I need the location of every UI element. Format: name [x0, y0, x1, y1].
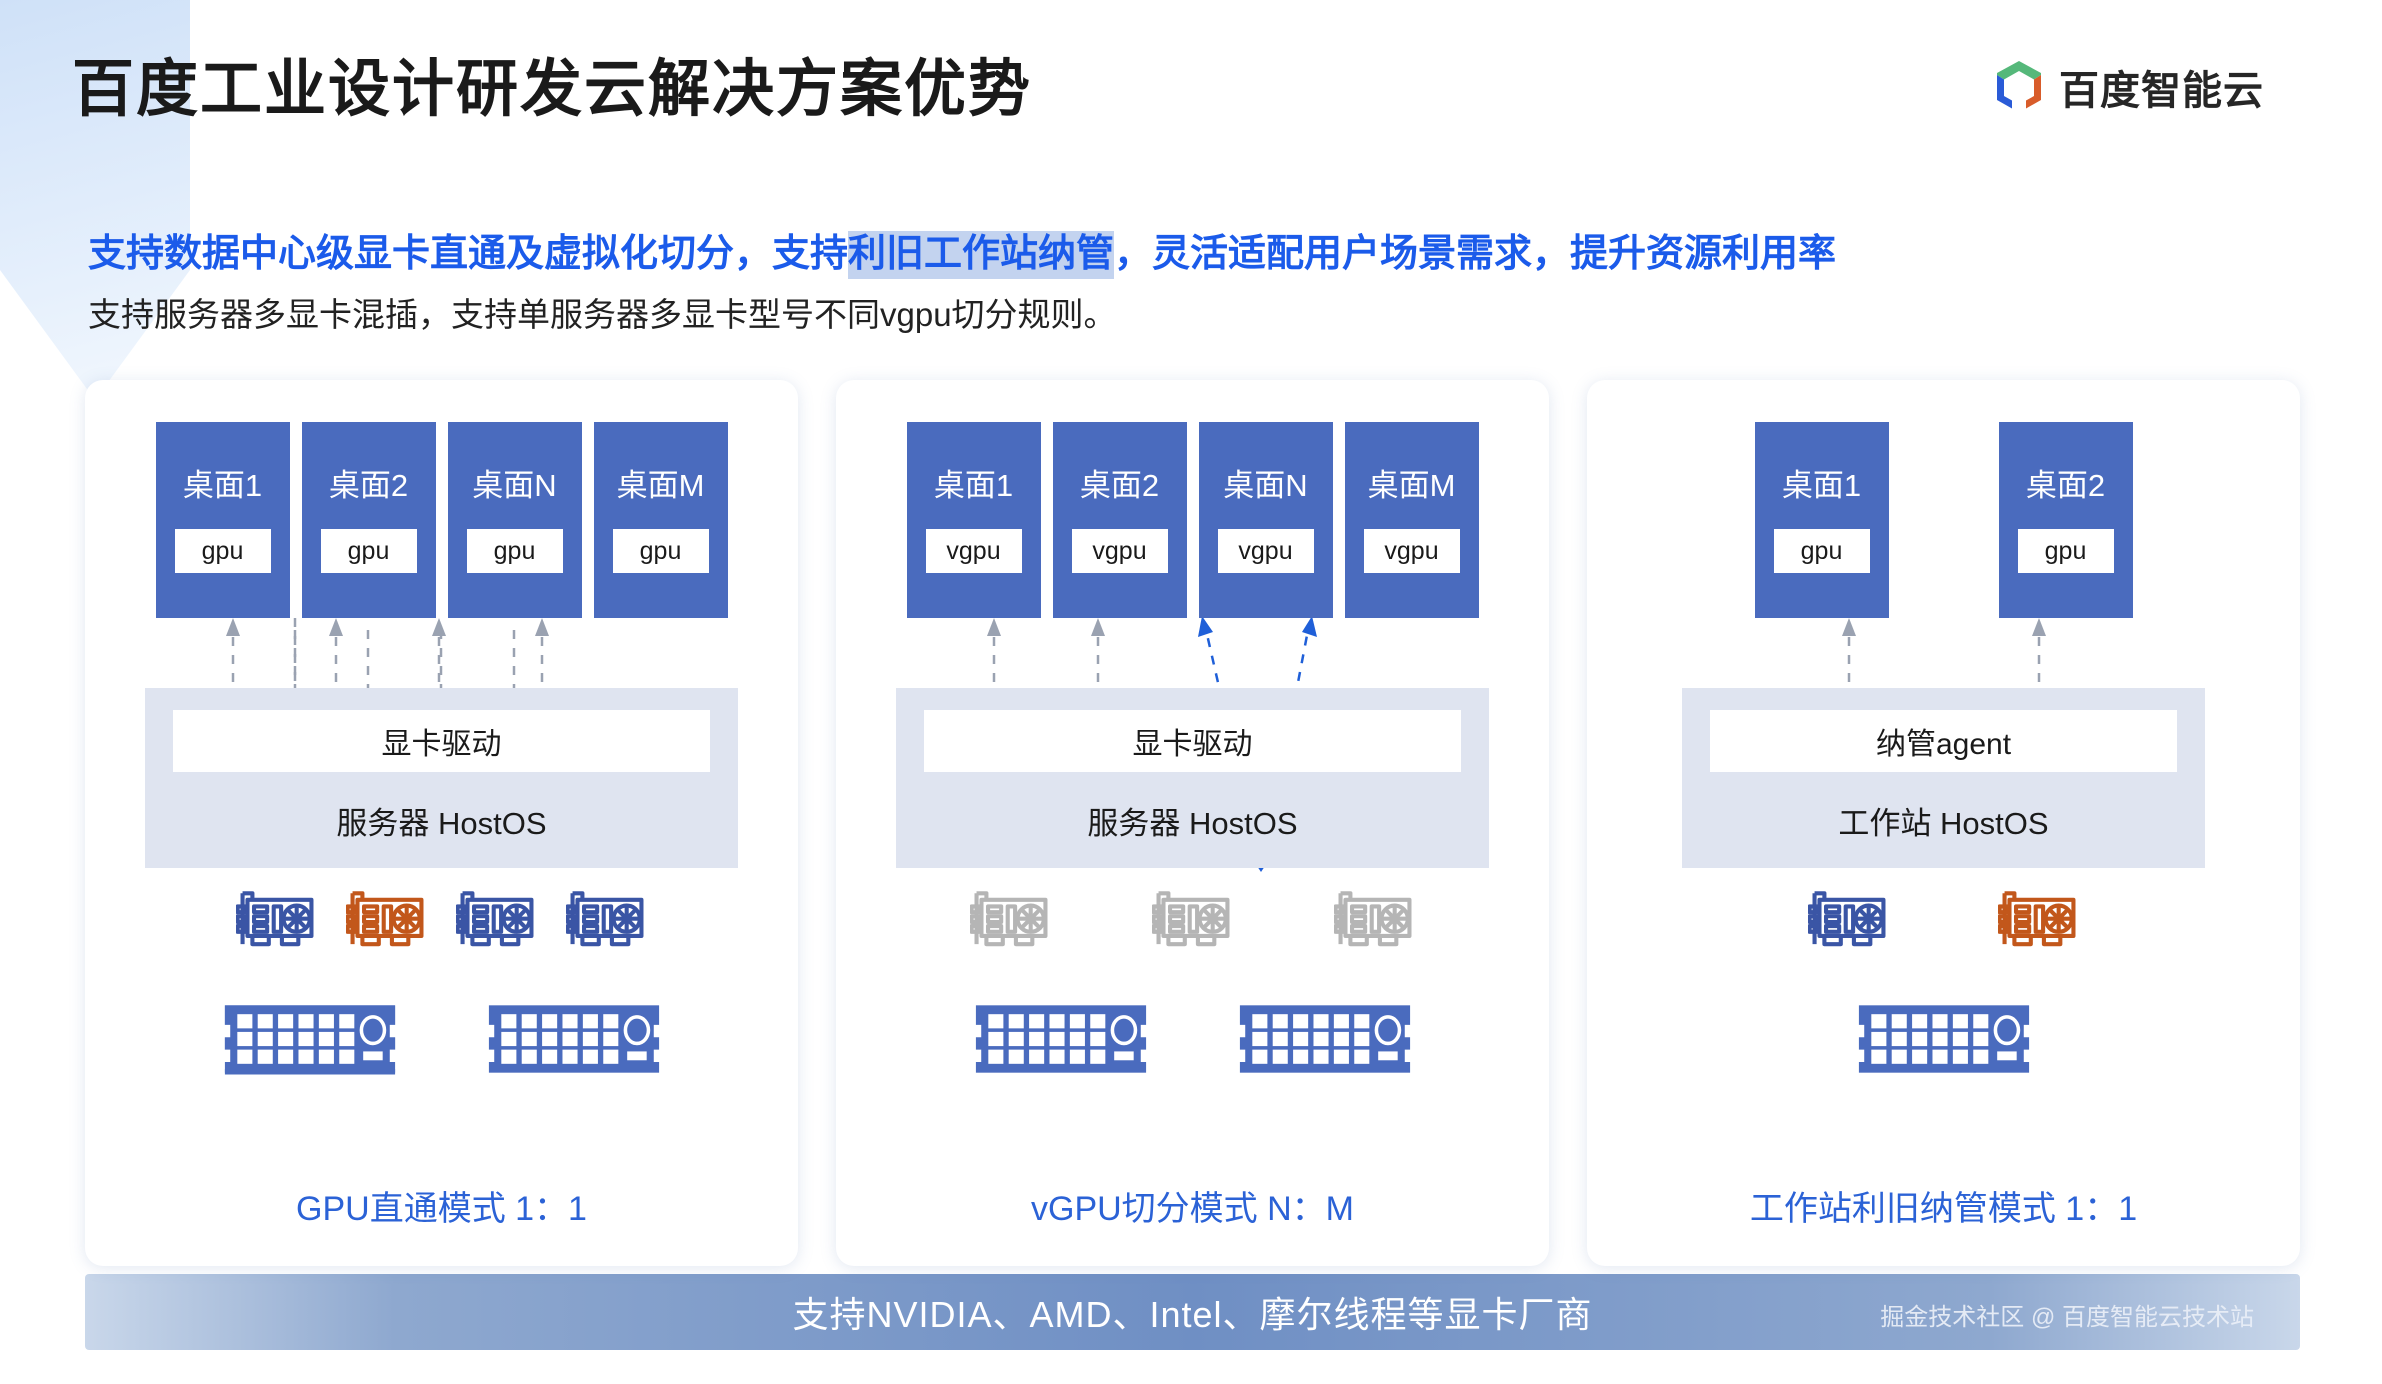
desktop-label: 桌面N [1223, 470, 1307, 501]
brand-lockup: 百度智能云 [1993, 58, 2264, 116]
gpu-card-icon [1334, 888, 1416, 956]
desktop-box: 桌面1 vgpu [907, 422, 1041, 618]
gpu-card-row-panel1 [85, 888, 798, 956]
hostos-block-panel3: 纳管agent 工作站 HostOS [1682, 688, 2205, 868]
gpu-card-icon [1808, 888, 1890, 956]
desktop-gpu-chip: gpu [467, 529, 563, 573]
desktop-vgpu-chip: vgpu [1072, 529, 1168, 573]
server-rack-icon [972, 1000, 1150, 1078]
desktop-label: 桌面M [1368, 470, 1456, 501]
desktop-gpu-chip: gpu [1774, 529, 1870, 573]
driver-box: 显卡驱动 [173, 710, 710, 772]
hostos-label: 服务器 HostOS [336, 772, 546, 868]
desktop-box: 桌面M vgpu [1345, 422, 1479, 618]
desktop-gpu-chip: gpu [2018, 529, 2114, 573]
desktop-box: 桌面1 gpu [1755, 422, 1889, 618]
server-rack-row-panel3 [1587, 1000, 2300, 1078]
desktop-row-panel2: 桌面1 vgpu 桌面2 vgpu 桌面N vgpu 桌面M vgpu [836, 422, 1549, 618]
headline-part1: 支持数据中心级显卡直通及虚拟化切分，支持 [88, 233, 848, 275]
server-rack-icon [485, 1000, 663, 1078]
bottom-banner-text: 支持NVIDIA、AMD、Intel、摩尔线程等显卡厂商 [792, 1286, 1592, 1338]
desktop-gpu-chip: gpu [321, 529, 417, 573]
server-rack-icon [221, 1000, 399, 1078]
panel-caption: vGPU切分模式 N：M [836, 1181, 1549, 1230]
hostos-block-panel2: 显卡驱动 服务器 HostOS [896, 688, 1489, 868]
desktop-box: 桌面N gpu [448, 422, 582, 618]
desktop-vgpu-chip: vgpu [926, 529, 1022, 573]
desktop-box: 桌面N vgpu [1199, 422, 1333, 618]
gpu-card-icon [1152, 888, 1234, 956]
desktop-vgpu-chip: vgpu [1218, 529, 1314, 573]
hostos-label: 服务器 HostOS [1087, 772, 1297, 868]
headline: 支持数据中心级显卡直通及虚拟化切分，支持利旧工作站纳管，灵活适配用户场景需求，提… [88, 222, 1836, 277]
panel-caption: 工作站利旧纳管模式 1：1 [1587, 1181, 2300, 1230]
desktop-label: 桌面1 [934, 470, 1013, 501]
driver-box: 显卡驱动 [924, 710, 1461, 772]
panel-vgpu-split: 桌面1 vgpu 桌面2 vgpu 桌面N vgpu 桌面M vgpu [836, 380, 1549, 1266]
desktop-row-panel1: 桌面1 gpu 桌面2 gpu 桌面N gpu 桌面M gpu [85, 422, 798, 618]
desktop-box: 桌面2 gpu [1999, 422, 2133, 618]
desktop-box: 桌面2 gpu [302, 422, 436, 618]
desktop-gpu-chip: gpu [175, 529, 271, 573]
server-rack-icon [1855, 1000, 2033, 1078]
gpu-card-icon [1998, 888, 2080, 956]
hostos-block-panel1: 显卡驱动 服务器 HostOS [145, 688, 738, 868]
desktop-vgpu-chip: vgpu [1364, 529, 1460, 573]
gpu-card-row-panel2 [836, 888, 1549, 956]
gpu-card-icon [970, 888, 1052, 956]
diagram-panels: 桌面1 gpu 桌面2 gpu 桌面N gpu 桌面M gpu [85, 380, 2300, 1266]
gpu-card-icon [236, 888, 318, 956]
desktop-gpu-chip: gpu [613, 529, 709, 573]
slide-root: 百度工业设计研发云解决方案优势 百度智能云 支持数据中心级显卡直通及虚拟化切分，… [0, 0, 2382, 1384]
desktop-box: 桌面M gpu [594, 422, 728, 618]
page-title: 百度工业设计研发云解决方案优势 [72, 38, 1032, 128]
desktop-label: 桌面1 [1782, 470, 1861, 501]
managed-agent-box: 纳管agent [1710, 710, 2177, 772]
hostos-label: 工作站 HostOS [1838, 772, 2048, 868]
brand-name: 百度智能云 [2059, 58, 2264, 116]
panel-gpu-passthrough: 桌面1 gpu 桌面2 gpu 桌面N gpu 桌面M gpu [85, 380, 798, 1266]
subline: 支持服务器多显卡混插，支持单服务器多显卡型号不同vgpu切分规则。 [88, 288, 1117, 336]
server-rack-row-panel1 [85, 1000, 798, 1078]
gpu-card-row-panel3 [1587, 888, 2300, 956]
baidu-cloud-hexagon-logo-icon [1993, 59, 2045, 115]
desktop-label: 桌面1 [183, 470, 262, 501]
desktop-label: 桌面N [472, 470, 556, 501]
desktop-label: 桌面2 [2026, 470, 2105, 501]
watermark: 掘金技术社区 @ 百度智能云技术站 [1880, 1297, 2254, 1332]
headline-part2: ，灵活适配用户场景需求，提升资源利用率 [1114, 233, 1836, 275]
desktop-label: 桌面2 [1080, 470, 1159, 501]
server-rack-icon [1236, 1000, 1414, 1078]
desktop-box: 桌面1 gpu [156, 422, 290, 618]
headline-highlight: 利旧工作站纳管 [848, 231, 1114, 279]
desktop-label: 桌面2 [329, 470, 408, 501]
desktop-label: 桌面M [617, 470, 705, 501]
panel-workstation-managed: 桌面1 gpu 桌面2 gpu 纳管agent 工作站 HostOS [1587, 380, 2300, 1266]
server-rack-row-panel2 [836, 1000, 1549, 1078]
desktop-row-panel3: 桌面1 gpu 桌面2 gpu [1587, 422, 2300, 618]
panel-caption: GPU直通模式 1：1 [85, 1181, 798, 1230]
gpu-card-icon [566, 888, 648, 956]
gpu-card-icon [346, 888, 428, 956]
desktop-box: 桌面2 vgpu [1053, 422, 1187, 618]
gpu-card-icon [456, 888, 538, 956]
